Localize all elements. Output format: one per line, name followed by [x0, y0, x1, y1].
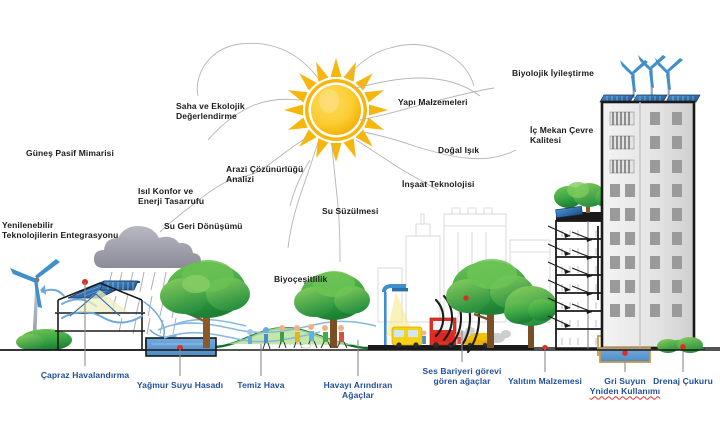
concept-label-dogal-isik: Doğal Işık: [438, 145, 479, 155]
wind-turbine-roof-3: [655, 58, 683, 98]
concept-label-biyocesitlilik: Biyoçeşitlilik: [274, 274, 327, 284]
concept-label-gunes-pasif-mimarisi: Güneş Pasif Mimarisi: [26, 148, 114, 158]
feature-label-line1: Gri Suyun: [604, 376, 646, 386]
concept-label-ic-mekan-cevre-kalitesi: İç Mekan Çevre Kalitesi: [530, 125, 593, 146]
bus: [392, 327, 422, 348]
feature-label-capraz-havalandirma: Çapraz Havalandırma: [41, 370, 129, 380]
feature-label-ses-bariyeri-agaclar: Ses Bariyeri görevi gören ağaçlar: [423, 366, 502, 387]
wind-turbine-roof-2: [638, 55, 666, 98]
concept-label-biyolojik-iyilestirme: Biyolojik İyileştirme: [512, 68, 594, 78]
concept-label-saha-ve-ekolojik: Saha ve Ekolojik Değerlendirme: [176, 101, 245, 122]
tower-louvers: [610, 112, 634, 173]
feature-label-gri-suyun-yeniden-kullanimi: Gri SuyunYniden Kullanımı: [590, 376, 661, 397]
concept-label-isil-konfor: Isıl Konfor ve Enerji Tasarrufu: [138, 186, 204, 207]
feature-label-temiz-hava: Temiz Hava: [237, 380, 284, 390]
feature-label-yalitim-malzemesi: Yalıtım Malzemesi: [508, 376, 582, 386]
concept-label-yenilenebilir-teknolojiler: Yenilenebilir Teknolojilerin Entegrasyon…: [2, 220, 118, 241]
concept-label-yapi-malzemeleri: Yapı Malzemeleri: [398, 97, 468, 107]
feature-label-drenaj-cukuru: Drenaj Çukuru: [653, 376, 713, 386]
infographic-root: Güneş Pasif MimarisiYenilenebilir Teknol…: [0, 0, 720, 427]
concept-label-arazi-cozunurlugu: Arazi Çözünürlüğü Analizi: [226, 164, 303, 185]
sun-icon: [284, 58, 388, 162]
feature-label-line2-misspelled: Yniden Kullanımı: [590, 386, 661, 396]
residential-tower: [600, 55, 700, 348]
wind-turbine-roof-1: [620, 60, 648, 98]
feature-label-yagmur-suyu-hasadi: Yağmur Suyu Hasadı: [137, 380, 223, 390]
concept-label-insaat-teknolojisi: İnşaat Teknolojisi: [402, 179, 475, 189]
feature-label-havayi-arindiran-agaclar: Havayı Arındıran Ağaçlar: [324, 380, 393, 401]
wind-turbine-left: [10, 259, 72, 351]
concept-label-su-suzulmesi: Su Süzülmesi: [322, 206, 378, 216]
concept-label-su-geri-donusumu: Su Geri Dönüşümü: [164, 221, 243, 231]
